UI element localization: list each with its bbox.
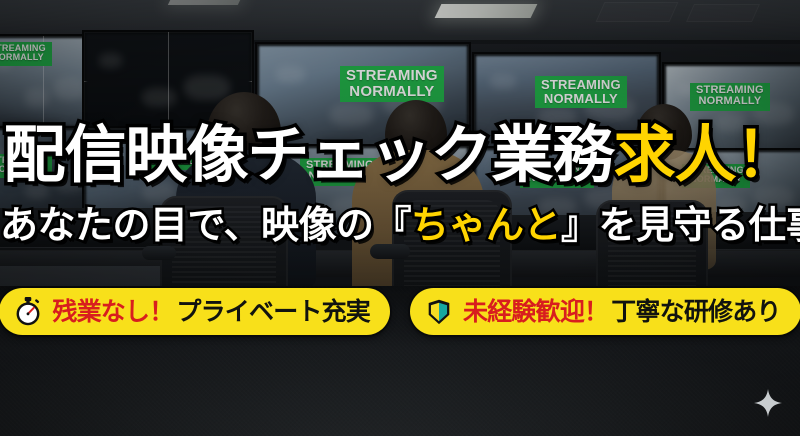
headline-main: 配信映像チェック業務 — [3, 118, 613, 191]
page-title: 配信映像チェック業務求人！ — [0, 124, 800, 186]
badge-rest-text: プライベート充実 — [176, 299, 370, 324]
benefit-badge-list: 残業なし！ プライベート充実 未経験歓迎！ 丁寧な研修あり — [0, 288, 800, 335]
badge-highlight-text: 未経験歓迎！ — [463, 299, 608, 324]
badge-highlight-text: 残業なし！ — [52, 299, 173, 324]
subheadline-accent: ちゃんと — [411, 203, 561, 247]
subheadline-part2: 』を見守る仕事。 — [561, 203, 800, 247]
benefit-badge-beginners-welcome[interactable]: 未経験歓迎！ 丁寧な研修あり — [410, 288, 800, 335]
benefit-badge-no-overtime[interactable]: 残業なし！ プライベート充実 — [0, 288, 390, 335]
subheadline: あなたの目で、映像の『ちゃんと』を見守る仕事。 — [0, 206, 800, 244]
text-overlay: 配信映像チェック業務求人！ あなたの目で、映像の『ちゃんと』を見守る仕事。 残業… — [0, 0, 800, 436]
badge-rest-text: 丁寧な研修あり — [611, 299, 780, 324]
sparkle-icon — [754, 389, 782, 417]
job-ad-banner: STREAMING NORMALLYSTREAMING NORMALLYSTRE… — [0, 0, 800, 436]
stopwatch-icon — [13, 296, 43, 326]
headline-accent: 求人！ — [614, 118, 797, 191]
subheadline-part1: あなたの目で、映像の『 — [0, 203, 411, 247]
beginner-mark-icon — [424, 296, 454, 326]
